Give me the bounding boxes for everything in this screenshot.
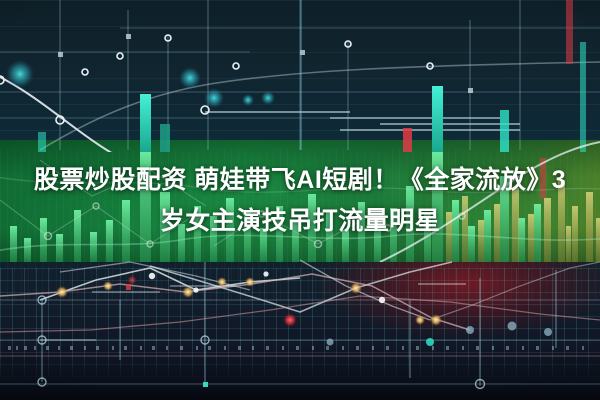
stock-news-banner: 股票炒股配资 萌娃带飞AI短剧！《全家流放》3 岁女主演技吊打流量明星	[0, 0, 600, 400]
vignette-overlay	[0, 0, 600, 400]
